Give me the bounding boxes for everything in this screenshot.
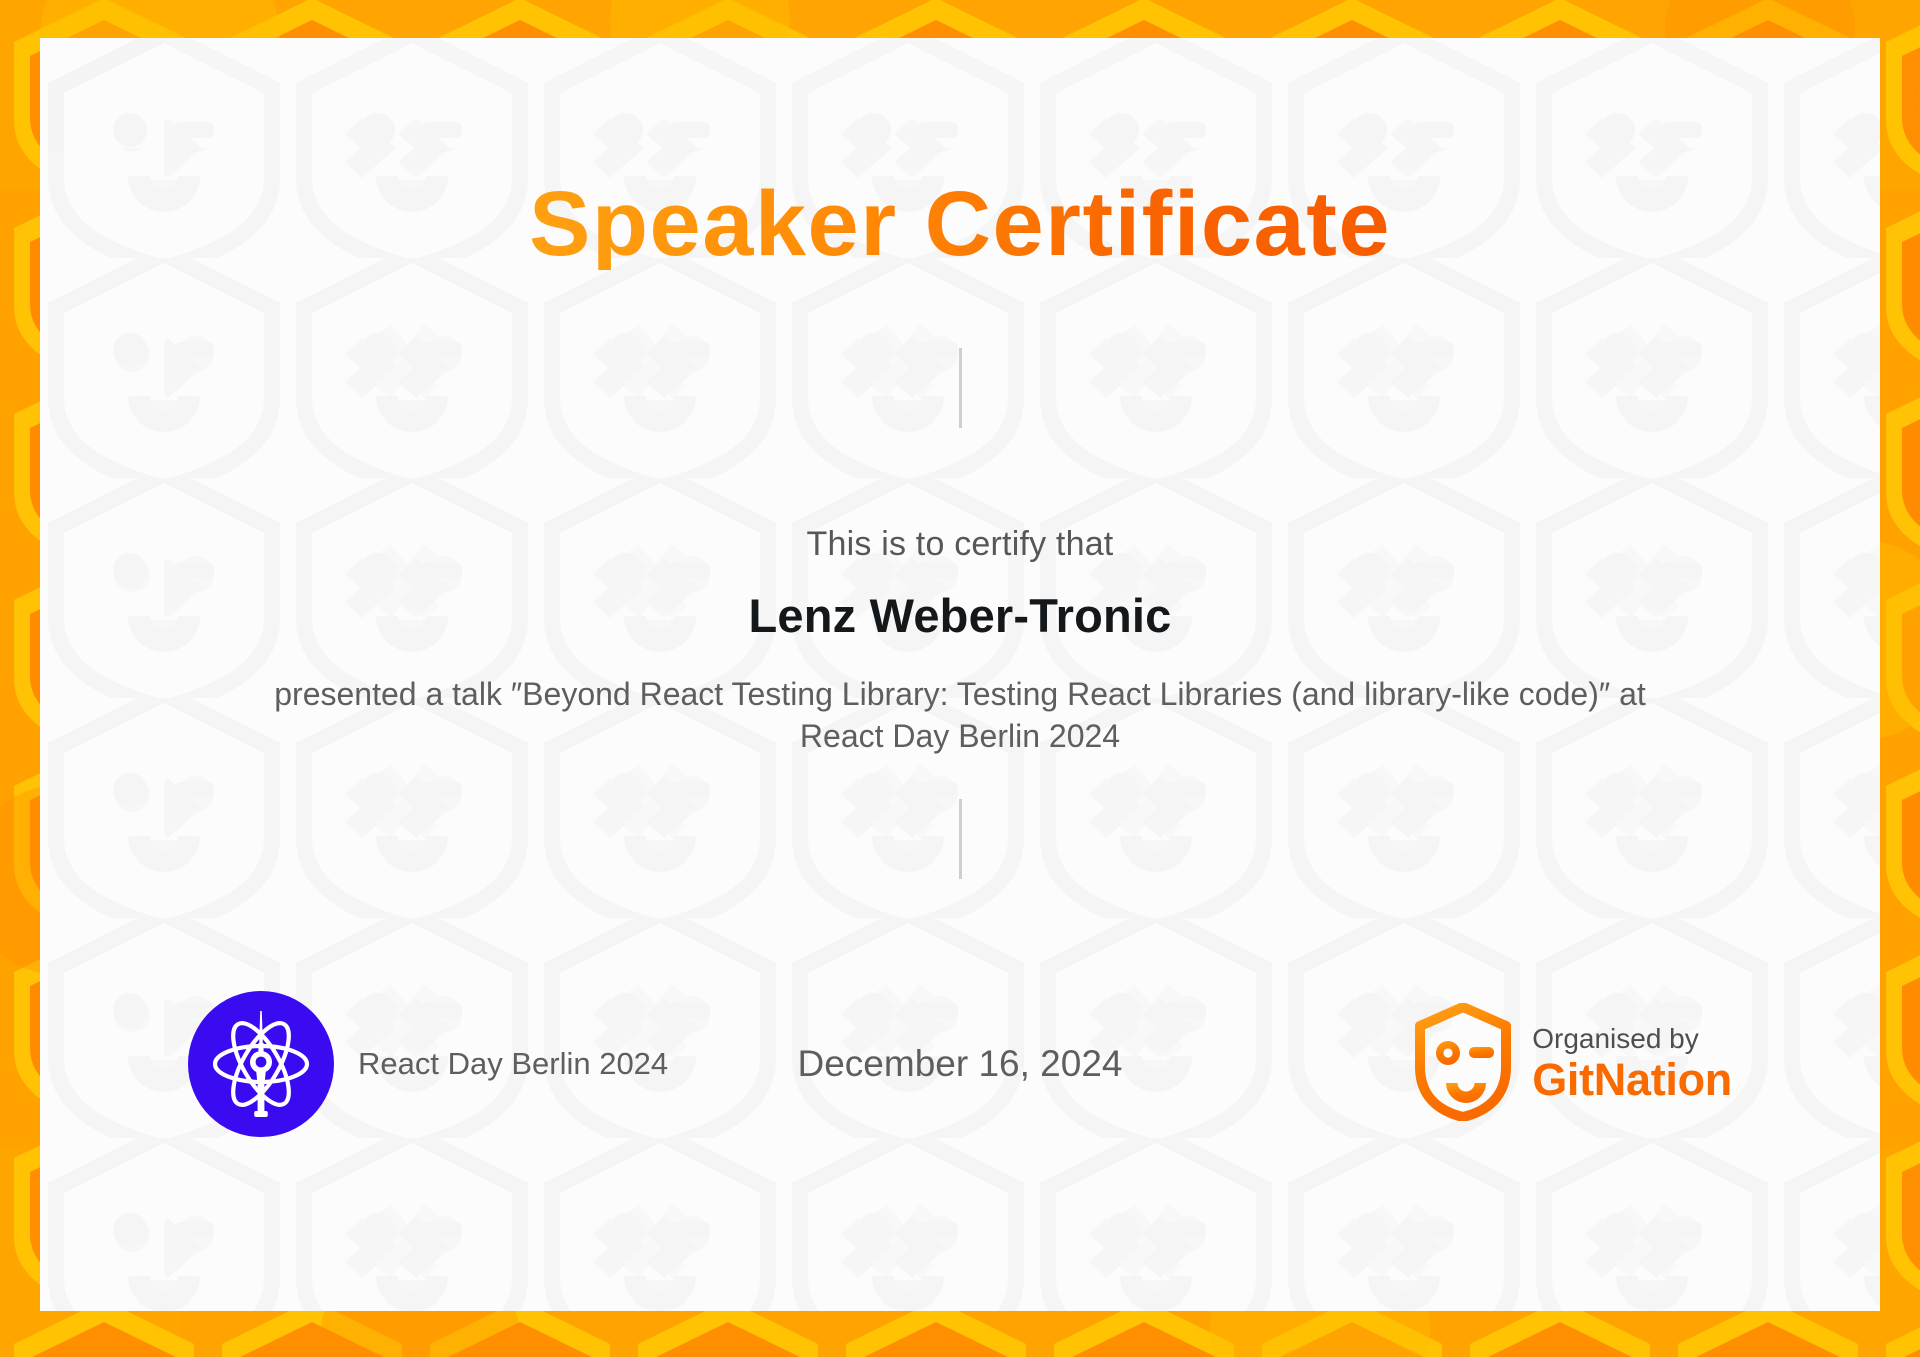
organiser-block: Organised by GitNation — [1414, 1003, 1732, 1126]
gitnation-shield-logo-icon — [1414, 1003, 1512, 1126]
react-day-berlin-logo-icon — [188, 991, 334, 1137]
certificate-frame: Speaker Certificate This is to certify t… — [0, 0, 1920, 1357]
organiser-text: Organised by GitNation — [1532, 1023, 1732, 1105]
certificate-footer: React Day Berlin 2024 December 16, 2024 — [40, 989, 1880, 1139]
talk-description-line-1: presented a talk ″Beyond React Testing L… — [274, 676, 1355, 712]
event-block: React Day Berlin 2024 — [188, 991, 668, 1137]
organiser-name: GitNation — [1532, 1055, 1732, 1105]
divider-top — [959, 348, 962, 428]
certificate-date: December 16, 2024 — [798, 1043, 1123, 1085]
certificate-card: Speaker Certificate This is to certify t… — [40, 38, 1880, 1311]
certify-line: This is to certify that — [807, 525, 1114, 564]
talk-description: presented a talk ″Beyond React Testing L… — [250, 673, 1670, 757]
page-title: Speaker Certificate — [529, 178, 1391, 270]
recipient-name: Lenz Weber-Tronic — [749, 588, 1172, 643]
divider-bottom — [959, 799, 962, 879]
event-name: React Day Berlin 2024 — [358, 1046, 668, 1082]
organised-by-label: Organised by — [1532, 1023, 1732, 1055]
